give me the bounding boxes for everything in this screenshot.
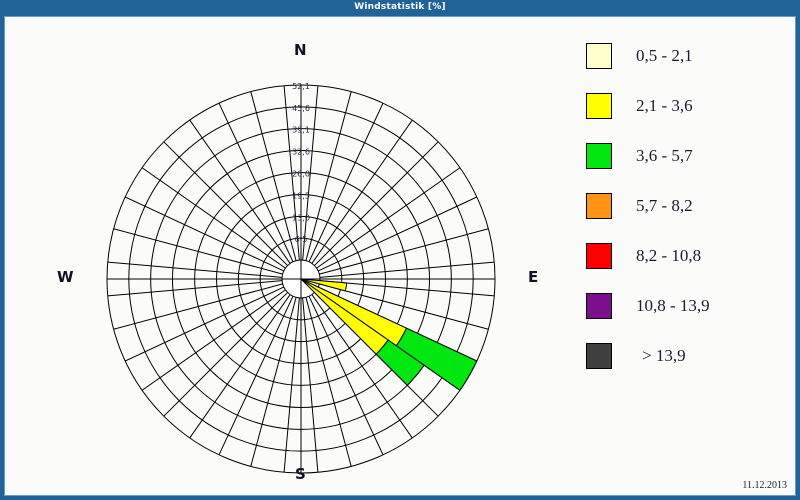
legend-label: 10,8 - 13,9 <box>636 296 710 316</box>
radial-tick-label: 13,0 <box>292 213 310 222</box>
legend-row: 5,7 - 8,2 <box>570 181 790 231</box>
window-title: Windstatistik [%] <box>354 2 446 12</box>
radial-tick-label: 26,0 <box>292 170 310 179</box>
compass-label-east: E <box>528 268 538 286</box>
legend-label: 0,5 - 2,1 <box>636 46 693 66</box>
legend-label: 2,1 - 3,6 <box>636 96 693 116</box>
radial-tick-label: 6,5 <box>295 235 308 244</box>
radial-tick-label: 19,5 <box>292 192 310 201</box>
compass-label-north: N <box>294 41 307 59</box>
legend-row: 8,2 - 10,8 <box>570 231 790 281</box>
legend-label: 8,2 - 10,8 <box>636 246 701 266</box>
legend-row: 0,5 - 2,1 <box>570 31 790 81</box>
legend-label: 5,7 - 8,2 <box>636 196 693 216</box>
legend-color-swatch <box>586 293 612 319</box>
grid-spoke <box>309 103 383 262</box>
window-root: Windstatistik [%] 6,513,019,526,032,639,… <box>0 0 800 500</box>
compass-label-south: S <box>295 465 306 483</box>
grid-spoke <box>125 197 284 271</box>
grid-spoke <box>219 296 293 455</box>
chart-canvas: 6,513,019,526,032,639,145,652,1 N S W E … <box>4 16 796 496</box>
legend-row: 2,1 - 3,6 <box>570 81 790 131</box>
legend-row: 3,6 - 5,7 <box>570 131 790 181</box>
legend-row: 10,8 - 13,9 <box>570 281 790 331</box>
legend-color-swatch <box>586 193 612 219</box>
datestamp: 11.12.2013 <box>742 480 787 491</box>
radial-tick-label: 39,1 <box>292 126 310 135</box>
radial-tick-label: 45,6 <box>292 104 310 113</box>
grid-spoke <box>219 103 293 262</box>
legend-color-swatch <box>586 243 612 269</box>
grid-spoke <box>125 287 284 361</box>
compass-label-west: W <box>57 268 74 286</box>
legend-color-swatch <box>586 93 612 119</box>
radial-tick-label: 32,6 <box>292 147 310 156</box>
legend-label: > 13,9 <box>642 346 686 366</box>
windrose-plot: 6,513,019,526,032,639,145,652,1 N S W E <box>5 17 565 496</box>
windrose-svg: 6,513,019,526,032,639,145,652,1 <box>5 17 565 496</box>
legend: 0,5 - 2,12,1 - 3,63,6 - 5,75,7 - 8,28,2 … <box>570 31 790 381</box>
grid-spoke <box>318 197 477 271</box>
legend-color-swatch <box>586 343 612 369</box>
window-titlebar: Windstatistik [%] <box>0 0 800 15</box>
radial-tick-label: 52,1 <box>292 82 310 91</box>
legend-color-swatch <box>586 143 612 169</box>
legend-label: 3,6 - 5,7 <box>636 146 693 166</box>
legend-row: > 13,9 <box>570 331 790 381</box>
legend-color-swatch <box>586 43 612 69</box>
